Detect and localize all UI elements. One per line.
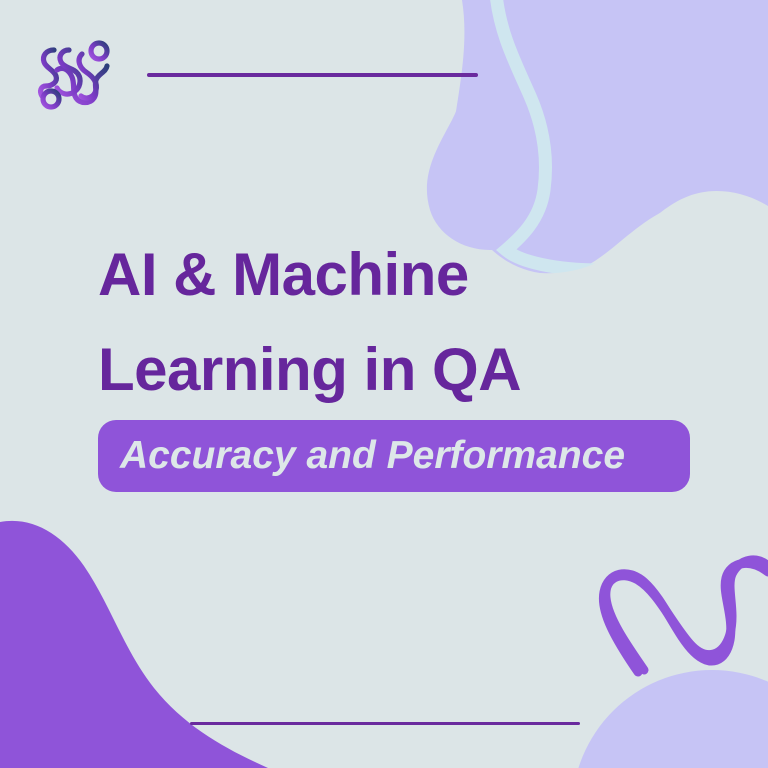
subtitle-banner: Accuracy and Performance [98,420,690,492]
purple-wave-bottom-left [0,521,268,768]
headline-text: AI & Machine Learning in QA [98,228,718,418]
lavender-blob-top-right [427,0,566,250]
brand-logo-icon [36,36,114,114]
purple-squiggle-doodle-bottom-right [603,560,768,672]
page-title: AI & Machine Learning in QA [98,228,718,418]
bottom-divider-rule [190,722,580,725]
slide-canvas: AI & Machine Learning in QA Accuracy and… [0,0,768,768]
subtitle-text: Accuracy and Performance [120,434,625,478]
lavender-circle-bottom-right [572,670,768,768]
top-divider-rule [147,73,478,77]
